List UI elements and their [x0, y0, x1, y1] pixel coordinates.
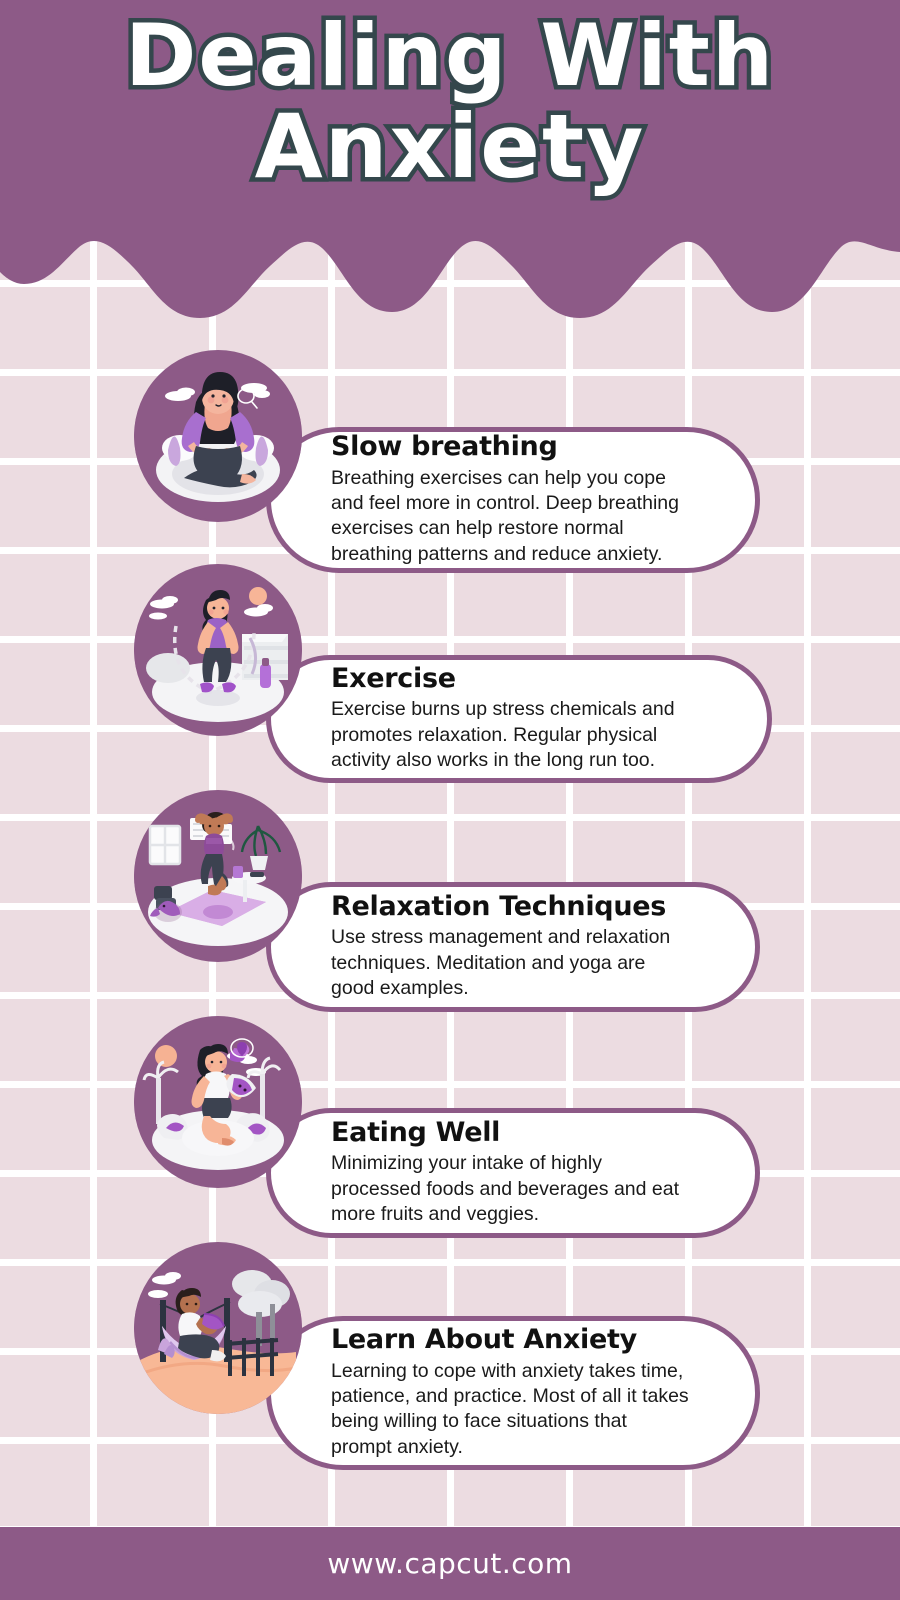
woman-meditating-cross-legged-icon — [134, 350, 302, 522]
tip-title-2: Exercise — [331, 663, 737, 695]
tip-row-1: Slow breathing Breathing exercises can h… — [0, 348, 900, 578]
woman-eating-watermelon-icon — [134, 1016, 302, 1188]
tip-card-1[interactable]: Slow breathing Breathing exercises can h… — [266, 427, 760, 573]
tip-card-5[interactable]: Learn About Anxiety Learning to cope wit… — [266, 1316, 760, 1470]
header-band: Dealing With Anxiety — [0, 0, 900, 330]
tip-illustration-5 — [134, 1242, 302, 1414]
title-line-1: Dealing With — [0, 14, 900, 98]
tip-card-2[interactable]: Exercise Exercise burns up stress chemic… — [266, 655, 772, 783]
tip-body-2: Exercise burns up stress chemicals and p… — [331, 697, 737, 773]
tip-row-5: Learn About Anxiety Learning to cope wit… — [0, 1240, 900, 1480]
tip-title-5: Learn About Anxiety — [331, 1324, 725, 1356]
footer-bar: www.capcut.com — [0, 1527, 900, 1600]
tip-illustration-1 — [134, 350, 302, 522]
tip-title-3: Relaxation Techniques — [331, 891, 725, 923]
tip-card-4[interactable]: Eating Well Minimizing your intake of hi… — [266, 1108, 760, 1238]
footer-url[interactable]: www.capcut.com — [327, 1547, 572, 1580]
woman-doing-yoga-tree-pose-icon — [134, 790, 302, 962]
tip-illustration-4 — [134, 1016, 302, 1188]
tip-title-4: Eating Well — [331, 1117, 725, 1149]
tip-body-1: Breathing exercises can help you cope an… — [331, 466, 725, 567]
tip-body-4: Minimizing your intake of highly process… — [331, 1151, 725, 1227]
page-title: Dealing With Anxiety — [0, 14, 900, 191]
tip-title-1: Slow breathing — [331, 431, 725, 463]
tip-body-3: Use stress management and relaxation tec… — [331, 925, 725, 1001]
tip-illustration-2 — [134, 564, 302, 736]
title-line-2: Anxiety — [0, 104, 900, 190]
woman-jumping-rope-icon — [134, 564, 302, 736]
tip-row-4: Eating Well Minimizing your intake of hi… — [0, 1014, 900, 1244]
woman-reading-in-hammock-icon — [134, 1242, 302, 1414]
tip-card-3[interactable]: Relaxation Techniques Use stress managem… — [266, 882, 760, 1012]
tip-row-2: Exercise Exercise burns up stress chemic… — [0, 562, 900, 792]
infographic-poster: Dealing With Anxiety — [0, 0, 900, 1600]
tip-illustration-3 — [134, 790, 302, 962]
tip-body-5: Learning to cope with anxiety takes time… — [331, 1359, 725, 1460]
tip-row-3: Relaxation Techniques Use stress managem… — [0, 788, 900, 1018]
